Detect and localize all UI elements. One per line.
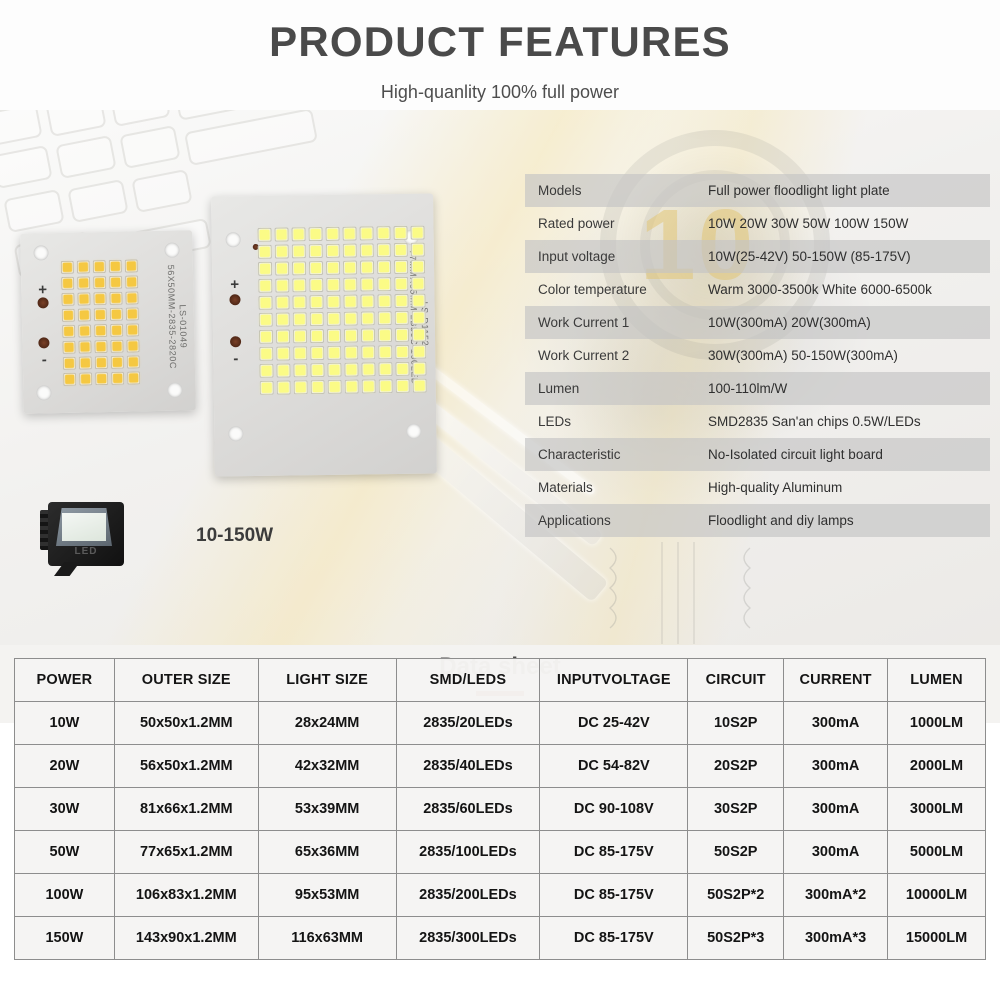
led-chip [395, 328, 409, 342]
table-cell: 2835/100LEDs [396, 831, 540, 874]
led-chip [125, 291, 138, 304]
led-chip [395, 345, 409, 359]
board-small-minus-sign: - [42, 351, 47, 368]
table-cell: 10000LM [888, 874, 986, 917]
led-chip [77, 276, 90, 289]
led-chip [411, 260, 425, 274]
led-chip [292, 244, 306, 258]
led-chip [327, 346, 341, 360]
spec-value: 10W(300mA) 20W(300mA) [708, 315, 990, 330]
table-cell: 300mA [784, 788, 888, 831]
table-header-cell: CURRENT [784, 659, 888, 702]
table-cell: 100W [15, 874, 115, 917]
led-chip [393, 226, 407, 240]
spec-key: Characteristic [525, 447, 708, 462]
led-chip [292, 278, 306, 292]
led-chip [343, 261, 357, 275]
led-chip [309, 278, 323, 292]
led-chip [379, 379, 393, 393]
spec-value: Warm 3000-3500k White 6000-6500k [708, 282, 990, 297]
led-chip [361, 328, 375, 342]
spec-value: 30W(300mA) 50-150W(300mA) [708, 348, 990, 363]
led-grid-large [257, 226, 426, 395]
led-chip [411, 294, 425, 308]
led-chip [378, 345, 392, 359]
spec-value: Full power floodlight light plate [708, 183, 990, 198]
led-chip [377, 243, 391, 257]
led-chip [310, 363, 324, 377]
spec-key: Work Current 1 [525, 315, 708, 330]
led-chip [345, 380, 359, 394]
table-row: 50W77x65x1.2MM65x36MM2835/100LEDsDC 85-1… [15, 831, 986, 874]
led-chip [79, 356, 92, 369]
led-chip [111, 372, 124, 385]
table-cell: 50W [15, 831, 115, 874]
led-chip [326, 278, 340, 292]
led-chip [95, 356, 108, 369]
led-chip [309, 295, 323, 309]
spec-key: Lumen [525, 381, 708, 396]
led-chip [344, 346, 358, 360]
table-header-cell: POWER [15, 659, 115, 702]
table-cell: 3000LM [888, 788, 986, 831]
spec-row: Lumen100-110lm/W [525, 372, 990, 405]
led-grid-small [61, 259, 141, 386]
led-chip [62, 325, 75, 338]
power-range-label: 10-150W [196, 525, 273, 547]
led-chip [291, 227, 305, 241]
led-chip [361, 311, 375, 325]
led-chip [326, 295, 340, 309]
led-chip [362, 379, 376, 393]
spec-row: Color temperatureWarm 3000-3500k White 6… [525, 273, 990, 306]
data-sheet-table-body: 10W50x50x1.2MM28x24MM2835/20LEDsDC 25-42… [15, 702, 986, 960]
table-row: 150W143x90x1.2MM116x63MM2835/300LEDsDC 8… [15, 917, 986, 960]
led-chip [412, 345, 426, 359]
led-chip [361, 362, 375, 376]
led-chip [259, 347, 273, 361]
led-chip [326, 261, 340, 275]
led-chip [378, 328, 392, 342]
led-chip [125, 275, 138, 288]
table-cell: DC 85-175V [540, 831, 688, 874]
table-cell: DC 54-82V [540, 745, 688, 788]
led-chip [94, 308, 107, 321]
led-chip [360, 260, 374, 274]
led-chip [126, 307, 139, 320]
specification-table: ModelsFull power floodlight light plateR… [525, 174, 990, 537]
table-cell: 10W [15, 702, 115, 745]
led-chip [377, 260, 391, 274]
led-chip [412, 328, 426, 342]
led-chip [259, 330, 273, 344]
led-chip [110, 324, 123, 337]
table-cell: 30W [15, 788, 115, 831]
led-board-large: + - 77MMX65MM-2B50C-100LED LS-D1152 [211, 193, 437, 476]
table-cell: 2835/60LEDs [396, 788, 540, 831]
page-subtitle: High-quanlity 100% full power [0, 82, 1000, 103]
table-cell: 42x32MM [258, 745, 396, 788]
table-row: 30W81x66x1.2MM53x39MM2835/60LEDsDC 90-10… [15, 788, 986, 831]
page-title: PRODUCT FEATURES [0, 18, 1000, 66]
led-chip [394, 277, 408, 291]
spec-value: Floodlight and diy lamps [708, 513, 990, 528]
led-chip [111, 356, 124, 369]
board-small-plus-sign: + [38, 281, 47, 298]
led-chip [412, 311, 426, 325]
table-cell: 300mA [784, 745, 888, 788]
led-chip [309, 244, 323, 258]
table-cell: 10S2P [688, 702, 784, 745]
led-chip [95, 372, 108, 385]
led-chip [109, 276, 122, 289]
led-chip [394, 243, 408, 257]
led-chip [308, 227, 322, 241]
spec-key: Work Current 2 [525, 348, 708, 363]
spec-key: Materials [525, 480, 708, 495]
table-cell: 65x36MM [258, 831, 396, 874]
led-chip [359, 226, 373, 240]
table-cell: 300mA*3 [784, 917, 888, 960]
led-chip [327, 329, 341, 343]
led-chip [63, 357, 76, 370]
table-cell: 2835/300LEDs [396, 917, 540, 960]
led-chip [77, 292, 90, 305]
table-cell: 150W [15, 917, 115, 960]
table-header-cell: OUTER SIZE [114, 659, 258, 702]
led-chip [342, 227, 356, 241]
table-header-cell: LIGHT SIZE [258, 659, 396, 702]
table-cell: 95x53MM [258, 874, 396, 917]
led-chip [259, 364, 273, 378]
led-chip [258, 296, 272, 310]
spec-value: 10W(25-42V) 50-150W (85-175V) [708, 249, 990, 264]
led-chip [62, 341, 75, 354]
spec-key: Input voltage [525, 249, 708, 264]
table-cell: 2835/40LEDs [396, 745, 540, 788]
spec-row: Work Current 110W(300mA) 20W(300mA) [525, 306, 990, 339]
led-chip [360, 243, 374, 257]
led-chip [344, 363, 358, 377]
board-large-plus-sign: + [230, 276, 239, 293]
table-cell: 50S2P*2 [688, 874, 784, 917]
spec-row: ModelsFull power floodlight light plate [525, 174, 990, 207]
spec-value: High-quality Aluminum [708, 480, 990, 495]
led-chip [293, 363, 307, 377]
led-chip [259, 313, 273, 327]
led-chip [310, 312, 324, 326]
led-chip [61, 277, 74, 290]
table-cell: 5000LM [888, 831, 986, 874]
led-chip [93, 260, 106, 273]
table-cell: 2835/20LEDs [396, 702, 540, 745]
led-chip [377, 277, 391, 291]
floodlight-brand-label: LED [48, 546, 124, 557]
spec-key: Color temperature [525, 282, 708, 297]
led-chip [327, 312, 341, 326]
spec-row: Work Current 230W(300mA) 50-150W(300mA) [525, 339, 990, 372]
spec-value: 10W 20W 30W 50W 100W 150W [708, 216, 990, 231]
led-chip [344, 329, 358, 343]
table-row: 100W106x83x1.2MM95x53MM2835/200LEDsDC 85… [15, 874, 986, 917]
led-chip [378, 362, 392, 376]
table-row: 20W56x50x1.2MM42x32MM2835/40LEDsDC 54-82… [15, 745, 986, 788]
led-chip [276, 312, 290, 326]
led-chip [309, 261, 323, 275]
table-cell: 50x50x1.2MM [114, 702, 258, 745]
led-chip [293, 346, 307, 360]
table-cell: 53x39MM [258, 788, 396, 831]
led-chip [61, 293, 74, 306]
table-header-cell: CIRCUIT [688, 659, 784, 702]
spec-value: SMD2835 San'an chips 0.5W/LEDs [708, 414, 990, 429]
table-cell: 2000LM [888, 745, 986, 788]
table-cell: 106x83x1.2MM [114, 874, 258, 917]
table-header-cell: SMD/LEDS [396, 659, 540, 702]
led-chip [327, 363, 341, 377]
data-sheet-table-head: POWEROUTER SIZELIGHT SIZESMD/LEDSINPUTVO… [15, 659, 986, 702]
led-chip [94, 324, 107, 337]
led-chip [93, 292, 106, 305]
table-cell: 15000LM [888, 917, 986, 960]
table-cell: 116x63MM [258, 917, 396, 960]
led-chip [78, 340, 91, 353]
led-chip [326, 244, 340, 258]
spec-row: MaterialsHigh-quality Aluminum [525, 471, 990, 504]
table-cell: DC 85-175V [540, 917, 688, 960]
led-chip [127, 355, 140, 368]
led-chip [343, 278, 357, 292]
spec-key: LEDs [525, 414, 708, 429]
led-chip [275, 278, 289, 292]
led-chip [343, 295, 357, 309]
table-row: 10W50x50x1.2MM28x24MM2835/20LEDsDC 25-42… [15, 702, 986, 745]
led-chip [62, 309, 75, 322]
board-small-part-number: LS-01049 [178, 304, 189, 348]
led-chip [361, 345, 375, 359]
spec-row: LEDsSMD2835 San'an chips 0.5W/LEDs [525, 405, 990, 438]
led-chip [343, 244, 357, 258]
table-cell: 50S2P*3 [688, 917, 784, 960]
table-cell: DC 25-42V [540, 702, 688, 745]
led-chip [412, 362, 426, 376]
led-chip [77, 260, 90, 273]
table-header-cell: LUMEN [888, 659, 986, 702]
table-cell: 143x90x1.2MM [114, 917, 258, 960]
table-cell: 2835/200LEDs [396, 874, 540, 917]
led-chip [126, 323, 139, 336]
led-chip [275, 244, 289, 258]
led-chip [260, 381, 274, 395]
table-cell: 28x24MM [258, 702, 396, 745]
led-chip [310, 329, 324, 343]
led-chip [311, 380, 325, 394]
led-chip [395, 362, 409, 376]
table-cell: 20S2P [688, 745, 784, 788]
led-chip [277, 380, 291, 394]
led-chip [293, 312, 307, 326]
led-chip [258, 262, 272, 276]
led-chip [294, 380, 308, 394]
table-cell: 81x66x1.2MM [114, 788, 258, 831]
led-chip [325, 227, 339, 241]
table-cell: 300mA [784, 831, 888, 874]
led-chip [360, 294, 374, 308]
spec-value: No-Isolated circuit light board [708, 447, 990, 462]
hero-section: 10 + - 56X50MM-2835-2820C LS-01049 + - 7… [0, 110, 1000, 645]
floodlight-led-panel [62, 513, 106, 541]
table-cell: 56x50x1.2MM [114, 745, 258, 788]
data-sheet-table: POWEROUTER SIZELIGHT SIZESMD/LEDSINPUTVO… [14, 658, 986, 960]
led-chip [93, 276, 106, 289]
led-chip [292, 295, 306, 309]
table-cell: DC 90-108V [540, 788, 688, 831]
floodlight-fixture: LED [40, 502, 128, 576]
led-chip [377, 294, 391, 308]
led-chip [310, 346, 324, 360]
spec-key: Models [525, 183, 708, 198]
led-chip [78, 308, 91, 321]
table-header-cell: INPUTVOLTAGE [540, 659, 688, 702]
led-chip [292, 261, 306, 275]
led-chip [109, 292, 122, 305]
led-chip [127, 371, 140, 384]
data-sheet-table-wrapper: POWEROUTER SIZELIGHT SIZESMD/LEDSINPUTVO… [14, 658, 986, 960]
led-chip [395, 311, 409, 325]
table-cell: 50S2P [688, 831, 784, 874]
led-chip [276, 346, 290, 360]
led-chip [109, 260, 122, 273]
led-chip [394, 260, 408, 274]
led-chip [125, 259, 138, 272]
led-chip [258, 279, 272, 293]
led-chip [126, 339, 139, 352]
led-chip [258, 245, 272, 259]
spec-row: ApplicationsFloodlight and diy lamps [525, 504, 990, 537]
led-chip [360, 277, 374, 291]
led-chip [79, 372, 92, 385]
led-chip [110, 308, 123, 321]
page-header: PRODUCT FEATURES High-quanlity 100% full… [0, 0, 1000, 110]
table-header-row: POWEROUTER SIZELIGHT SIZESMD/LEDSINPUTVO… [15, 659, 986, 702]
led-chip [63, 373, 76, 386]
led-chip [110, 340, 123, 353]
led-chip [275, 295, 289, 309]
led-chip [293, 329, 307, 343]
led-chip [396, 379, 410, 393]
led-chip [378, 311, 392, 325]
led-chip [410, 226, 424, 240]
table-cell: 30S2P [688, 788, 784, 831]
led-chip [61, 261, 74, 274]
led-chip [394, 294, 408, 308]
led-chip [411, 277, 425, 291]
table-cell: 1000LM [888, 702, 986, 745]
table-cell: 300mA [784, 702, 888, 745]
led-chip [257, 228, 271, 242]
spec-key: Applications [525, 513, 708, 528]
spec-value: 100-110lm/W [708, 381, 990, 396]
led-chip [274, 227, 288, 241]
led-chip [344, 312, 358, 326]
table-cell: 20W [15, 745, 115, 788]
led-chip [94, 340, 107, 353]
table-cell: 77x65x1.2MM [114, 831, 258, 874]
led-chip [376, 226, 390, 240]
spec-key: Rated power [525, 216, 708, 231]
led-chip [328, 380, 342, 394]
board-large-minus-sign: - [233, 350, 238, 367]
led-board-small: + - 56X50MM-2835-2820C LS-01049 [20, 230, 196, 414]
spec-row: CharacteristicNo-Isolated circuit light … [525, 438, 990, 471]
table-cell: 300mA*2 [784, 874, 888, 917]
led-chip [78, 324, 91, 337]
spec-row: Input voltage10W(25-42V) 50-150W (85-175… [525, 240, 990, 273]
table-cell: DC 85-175V [540, 874, 688, 917]
circuit-coil-watermark-icon [600, 540, 770, 645]
spec-row: Rated power10W 20W 30W 50W 100W 150W [525, 207, 990, 240]
led-chip [276, 363, 290, 377]
led-chip [275, 261, 289, 275]
led-chip [413, 379, 427, 393]
led-chip [411, 243, 425, 257]
led-chip [276, 329, 290, 343]
board-small-code: 56X50MM-2835-2820C [166, 265, 178, 370]
